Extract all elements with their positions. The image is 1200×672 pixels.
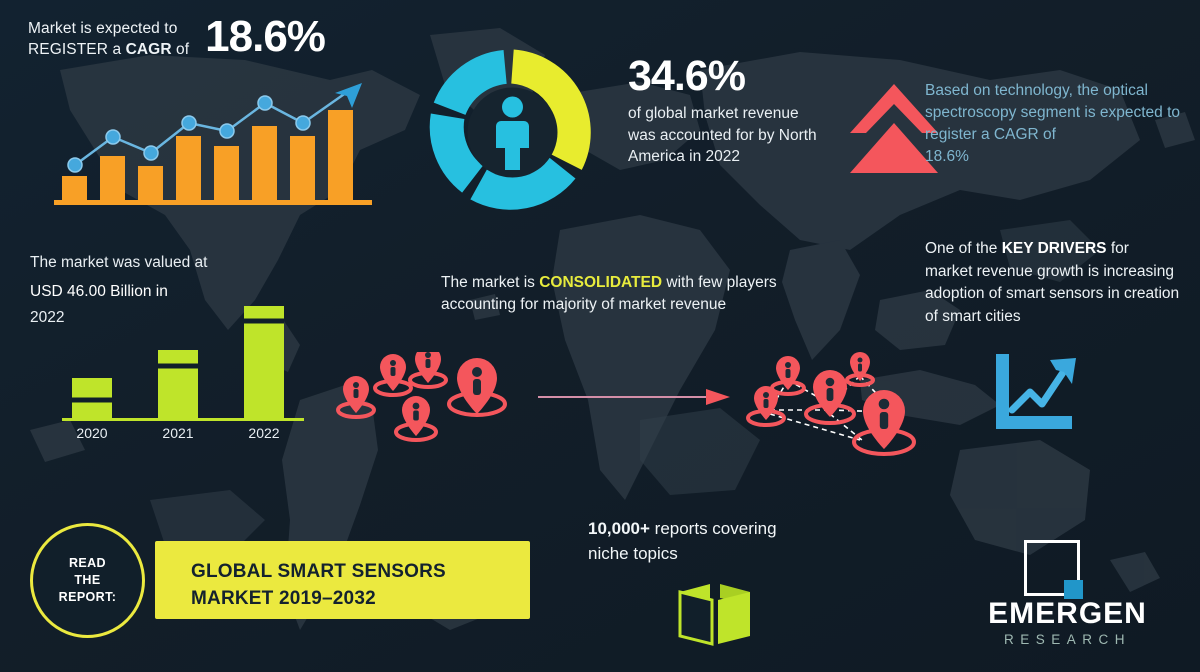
north-america-percent: 34.6% — [628, 52, 828, 100]
reports-count-text: 10,000+ reports covering niche topics — [588, 516, 818, 566]
green-chart-axis-labels: 2020 2021 2022 — [76, 425, 279, 441]
north-america-description: of global market revenue was accounted f… — [628, 103, 828, 168]
cta-line2: THE — [59, 572, 117, 589]
key-drivers-highlight: KEY DRIVERS — [1002, 240, 1107, 257]
logo-subtitle: RESEARCH — [960, 632, 1175, 648]
header-of-word: of — [172, 41, 190, 58]
report-title-line2: MARKET 2019–2032 — [191, 585, 520, 612]
cta-line1: READ — [59, 555, 117, 572]
read-the-report-badge[interactable]: READ THE REPORT: — [30, 523, 145, 638]
cta-line3: REPORT: — [59, 589, 117, 606]
scattered-map-pins-group — [332, 352, 522, 462]
report-title-text: GLOBAL SMART SENSORS MARKET 2019–2032 — [191, 558, 520, 612]
consolidated-pre-text: The market is — [441, 274, 539, 291]
chart-arrow-head — [335, 83, 362, 108]
emergen-research-logo: EMERGEN RESEARCH — [960, 540, 1175, 652]
open-book-icon — [676, 578, 754, 646]
header-lead-text: Market is expected to REGISTER a CAGR of — [28, 14, 189, 60]
report-title-banner[interactable]: GLOBAL SMART SENSORS MARKET 2019–2032 — [155, 541, 530, 619]
technology-segment-text: Based on technology, the optical spectro… — [925, 82, 1180, 143]
chart-baseline — [54, 200, 372, 205]
header-cagr-word: CAGR — [126, 41, 172, 58]
read-the-report-label: READ THE REPORT: — [59, 555, 117, 606]
report-title-line1: GLOBAL SMART SENSORS — [191, 558, 520, 585]
region-share-donut — [425, 45, 600, 220]
consolidated-highlight: CONSOLIDATED — [539, 274, 662, 291]
axis-label-2020: 2020 — [76, 425, 107, 441]
market-value-line1: The market was valued at — [30, 252, 320, 274]
north-america-share-block: 34.6% of global market revenue was accou… — [628, 52, 828, 168]
header-register-word: REGISTER a — [28, 41, 126, 58]
header-lead-line1: Market is expected to — [28, 18, 189, 39]
technology-segment-block: Based on technology, the optical spectro… — [925, 80, 1195, 168]
key-drivers-pre-text: One of the — [925, 240, 1002, 257]
growth-line-chart-icon — [988, 352, 1080, 434]
axis-label-2021: 2021 — [162, 425, 193, 441]
header-lead-line2: REGISTER a CAGR of — [28, 39, 189, 60]
infographic-canvas: Market is expected to REGISTER a CAGR of… — [0, 0, 1200, 672]
reports-count-number: 10,000+ — [588, 519, 650, 538]
axis-label-2022: 2022 — [248, 425, 279, 441]
read-the-report-cta[interactable]: GLOBAL SMART SENSORS MARKET 2019–2032 RE… — [30, 538, 530, 622]
logo-name: EMERGEN — [960, 596, 1175, 632]
reports-count-block: 10,000+ reports covering niche topics — [588, 516, 818, 566]
header-cagr-value: 18.6% — [205, 14, 325, 60]
connected-map-pins-group — [742, 352, 932, 467]
trend-polyline — [1012, 368, 1066, 410]
consolidated-market-block: The market is CONSOLIDATED with few play… — [441, 272, 781, 316]
header-cagr-block: Market is expected to REGISTER a CAGR of… — [28, 14, 428, 60]
flow-arrow-icon — [538, 386, 733, 408]
green-chart-baseline — [62, 418, 304, 421]
growth-combo-chart — [52, 78, 382, 208]
key-drivers-block: One of the KEY DRIVERS for market revenu… — [925, 238, 1180, 328]
market-value-bar-chart: 2020 2021 2022 — [58, 278, 308, 446]
technology-segment-value: 18.6% — [925, 146, 1195, 168]
